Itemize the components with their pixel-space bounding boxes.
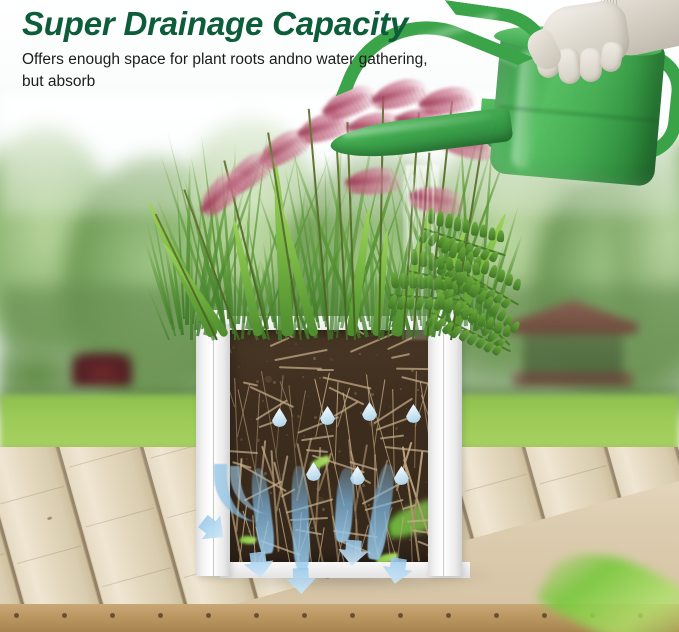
soil-speck xyxy=(302,376,304,378)
soil-speck xyxy=(395,427,398,430)
glove-finger xyxy=(599,40,625,73)
soil-speck xyxy=(256,380,259,383)
drainage-arrow-head xyxy=(194,509,233,549)
water-droplet-icon xyxy=(362,402,377,421)
soil-speck xyxy=(406,408,407,409)
soil-speck xyxy=(262,400,264,402)
soil-speck xyxy=(338,450,341,453)
rootlet xyxy=(279,366,322,369)
fern-pinna xyxy=(488,227,496,240)
drainage-arrow-shaft xyxy=(290,466,311,571)
soil-speck xyxy=(422,350,423,351)
fern-pinna xyxy=(454,216,462,231)
red-shrub xyxy=(72,353,132,387)
soil-speck xyxy=(400,388,402,390)
root-strand xyxy=(392,389,395,478)
soil-speck xyxy=(295,343,297,345)
soil-speck xyxy=(251,419,252,420)
soil-speck xyxy=(319,377,321,379)
wood-grain xyxy=(86,508,155,528)
deck-screw xyxy=(62,613,67,618)
soil-speck xyxy=(257,439,260,442)
deck-screw xyxy=(158,613,163,618)
soil-speck xyxy=(292,454,293,455)
soil-speck xyxy=(384,446,386,448)
subline: Offers enough space for plant roots andn… xyxy=(22,49,442,93)
water-droplet-icon xyxy=(406,404,421,423)
fern-pinna xyxy=(497,230,505,242)
fern-pinna xyxy=(471,222,479,236)
soil-speck xyxy=(246,458,248,460)
soil-speck xyxy=(378,426,381,429)
gazebo-base xyxy=(513,372,633,388)
wood-grain xyxy=(0,486,64,505)
glove-finger xyxy=(579,48,602,83)
rootlet xyxy=(329,387,365,405)
fern-pinna xyxy=(512,278,522,291)
soil-speck xyxy=(365,373,366,374)
soil-speck xyxy=(313,357,316,360)
wood-knot xyxy=(47,516,53,520)
soil-speck xyxy=(314,416,317,419)
water-droplet-icon xyxy=(272,408,287,427)
soil-speck xyxy=(373,465,374,466)
soil-speck xyxy=(303,435,305,437)
soil-speck xyxy=(371,393,374,396)
soil-speck xyxy=(275,453,276,454)
soil-speck xyxy=(240,438,243,441)
root-strand xyxy=(315,373,330,438)
deck-screw xyxy=(542,613,547,618)
soil-speck xyxy=(360,412,362,414)
drainage-arrow-head xyxy=(337,539,369,568)
fern-pinna xyxy=(480,224,488,237)
soil-speck xyxy=(297,415,300,418)
soil-speck xyxy=(273,381,276,384)
text-block: Super Drainage Capacity Offers enough sp… xyxy=(22,4,542,93)
wood-grain xyxy=(0,553,4,570)
fern-pinna xyxy=(462,219,470,233)
fern-pinna xyxy=(445,213,453,228)
soil-speck xyxy=(238,366,240,368)
rootlet xyxy=(306,449,328,452)
wood-grain xyxy=(540,465,607,484)
rootlet xyxy=(380,435,404,439)
soil-speck xyxy=(308,396,309,397)
soil-speck xyxy=(321,449,324,452)
drainage-arrow-shaft xyxy=(333,467,355,542)
rootlet xyxy=(391,353,410,358)
rootlet xyxy=(250,386,294,408)
soil-speck xyxy=(419,461,422,464)
rootlet xyxy=(227,450,258,454)
soil-speck xyxy=(359,353,361,355)
drainage-arrow-head xyxy=(286,567,317,594)
soil-speck xyxy=(376,354,378,356)
drainage-arrow-head xyxy=(242,550,275,580)
soil-speck xyxy=(349,431,350,432)
soil-speck xyxy=(278,342,280,344)
drainage-arrow-head xyxy=(380,556,414,587)
headline: Super Drainage Capacity xyxy=(22,4,542,44)
soil-speck xyxy=(417,389,419,391)
soil-speck xyxy=(411,369,414,372)
wood-grain xyxy=(17,545,81,564)
soil-speck xyxy=(232,346,235,349)
wood-grain xyxy=(102,567,171,587)
soil-speck xyxy=(389,407,390,408)
rootlet xyxy=(274,349,327,361)
soil-speck xyxy=(354,392,357,395)
soil-speck xyxy=(286,434,288,436)
soil-speck xyxy=(343,411,345,413)
wood-grain xyxy=(69,448,138,468)
soil-speck xyxy=(332,430,333,431)
drainage-arrows xyxy=(196,468,496,632)
rootlet xyxy=(317,369,334,371)
drainage-arrow-shaft xyxy=(365,463,398,561)
deck-screw xyxy=(14,613,19,618)
soil-speck xyxy=(284,362,285,363)
soil-speck xyxy=(267,361,268,362)
deck-screw xyxy=(110,613,115,618)
soil-speck xyxy=(330,358,333,361)
root-strand xyxy=(255,393,260,468)
soil-speck xyxy=(245,399,247,401)
product-infographic-canvas: Super Drainage Capacity Offers enough sp… xyxy=(0,0,679,632)
fern-pinna xyxy=(473,262,480,275)
